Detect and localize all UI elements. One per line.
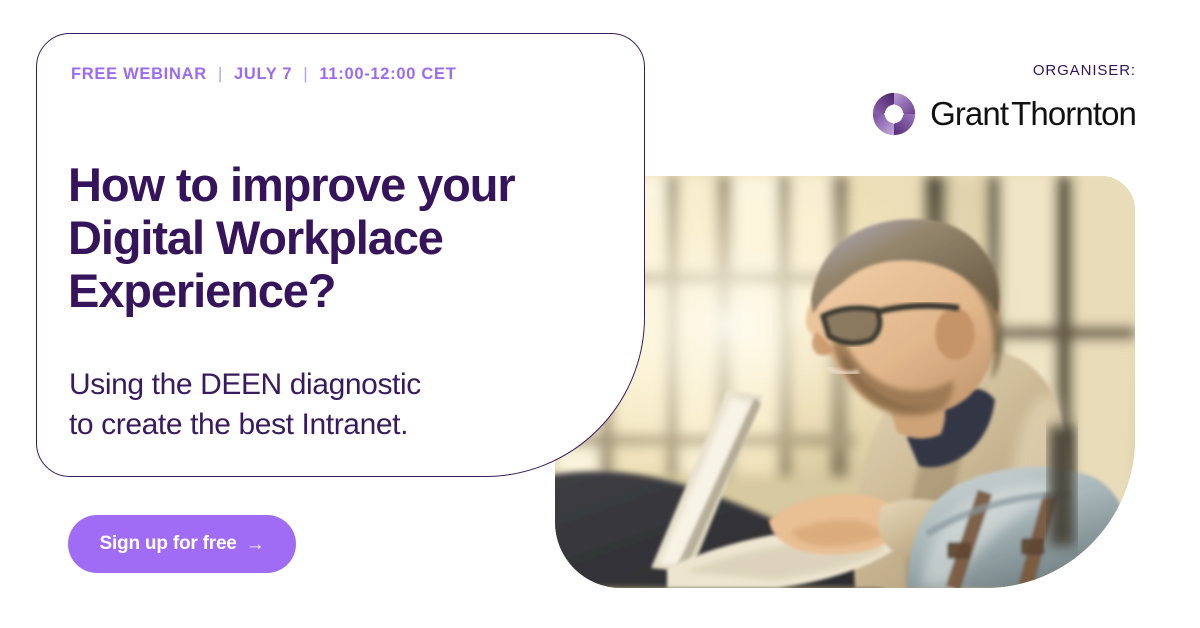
event-date: JULY 7 bbox=[234, 65, 292, 84]
sign-up-button[interactable]: Sign up for free → bbox=[68, 515, 296, 573]
sign-up-button-label: Sign up for free bbox=[99, 533, 236, 555]
headline-line-1: How to improve your bbox=[68, 159, 588, 212]
grant-thornton-logo: GrantThornton bbox=[871, 91, 1136, 137]
organiser-label: ORGANISER: bbox=[871, 62, 1136, 79]
meta-separator-1: | bbox=[218, 64, 223, 84]
organiser-block: ORGANISER: bbox=[871, 62, 1136, 137]
logo-word-thornton: Thornton bbox=[1011, 95, 1136, 132]
event-meta: FREE WEBINAR | JULY 7 | 11:00-12:00 CET bbox=[71, 64, 456, 84]
headline-line-3: Experience? bbox=[68, 265, 588, 318]
page-title: How to improve your Digital Workplace Ex… bbox=[68, 159, 588, 317]
logo-word-grant: Grant bbox=[930, 95, 1008, 132]
grant-thornton-swirl-icon bbox=[871, 91, 917, 137]
meta-separator-2: | bbox=[303, 64, 308, 84]
arrow-right-icon: → bbox=[246, 535, 265, 554]
subtitle-line-1: Using the DEEN diagnostic bbox=[69, 365, 529, 405]
headline-line-2: Digital Workplace bbox=[68, 212, 588, 265]
grant-thornton-wordmark: GrantThornton bbox=[930, 95, 1136, 133]
subtitle-line-2: to create the best Intranet. bbox=[69, 405, 529, 445]
webinar-promo-banner: FREE WEBINAR | JULY 7 | 11:00-12:00 CET … bbox=[0, 0, 1200, 628]
event-time: 11:00-12:00 CET bbox=[319, 65, 456, 84]
free-webinar-label: FREE WEBINAR bbox=[71, 65, 207, 84]
subtitle: Using the DEEN diagnostic to create the … bbox=[69, 365, 529, 445]
